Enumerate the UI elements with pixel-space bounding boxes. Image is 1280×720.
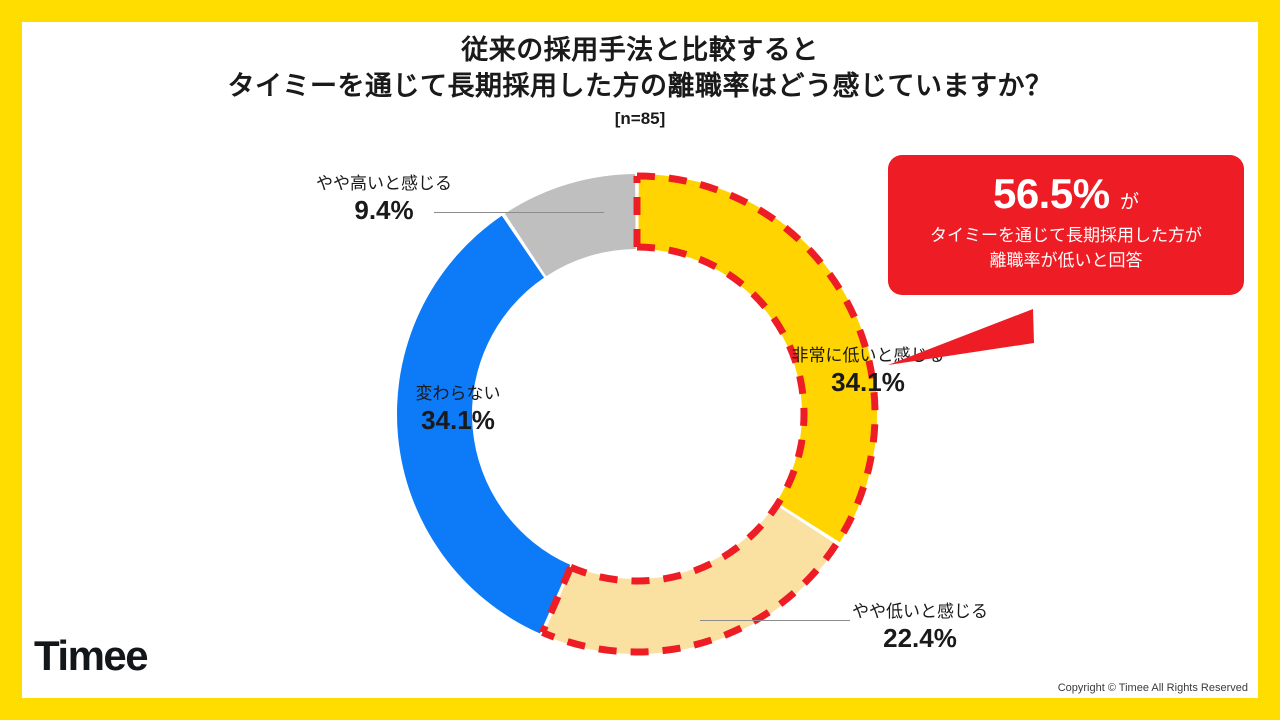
timee-logo: Timee: [34, 632, 147, 680]
slice-label-value: 34.1%: [374, 405, 542, 436]
slice-label-value: 9.4%: [300, 195, 468, 226]
donut-chart: やや高いと感じる 9.4% 変わらない 34.1% 非常に低いと感じる 34.1…: [22, 22, 1258, 698]
slice-label-category: 変わらない: [374, 382, 542, 405]
slice-label-value: 34.1%: [758, 367, 978, 398]
callout-bubble: 56.5% が タイミーを通じて長期採用した方が 離職率が低いと回答: [888, 155, 1244, 295]
callout-body: タイミーを通じて長期採用した方が 離職率が低いと回答: [888, 223, 1244, 273]
donut-chart-svg: [22, 22, 1258, 698]
callout-headline: 56.5% が: [888, 173, 1244, 215]
slice-label-category: やや高いと感じる: [300, 172, 468, 195]
callout-line-1: タイミーを通じて長期採用した方が: [888, 223, 1244, 248]
donut-slice: [543, 504, 837, 654]
callout-tail-icon: [888, 287, 1058, 367]
slide-canvas: 従来の採用手法と比較すると タイミーを通じて長期採用した方の離職率はどう感じてい…: [22, 22, 1258, 698]
callout-suffix: が: [1120, 192, 1139, 213]
callout-line-2: 離職率が低いと回答: [888, 248, 1244, 273]
slide: 従来の採用手法と比較すると タイミーを通じて長期採用した方の離職率はどう感じてい…: [0, 0, 1280, 720]
slice-label-yaya-hikui: やや低いと感じる 22.4%: [820, 600, 1020, 654]
copyright-text: Copyright © Timee All Rights Reserved: [1058, 682, 1248, 694]
slice-label-category: やや低いと感じる: [820, 600, 1020, 623]
callout-percent: 56.5%: [993, 170, 1110, 217]
slice-label-yaya-takai: やや高いと感じる 9.4%: [300, 172, 468, 226]
slice-label-value: 22.4%: [820, 623, 1020, 654]
slice-label-kawaranai: 変わらない 34.1%: [374, 382, 542, 436]
